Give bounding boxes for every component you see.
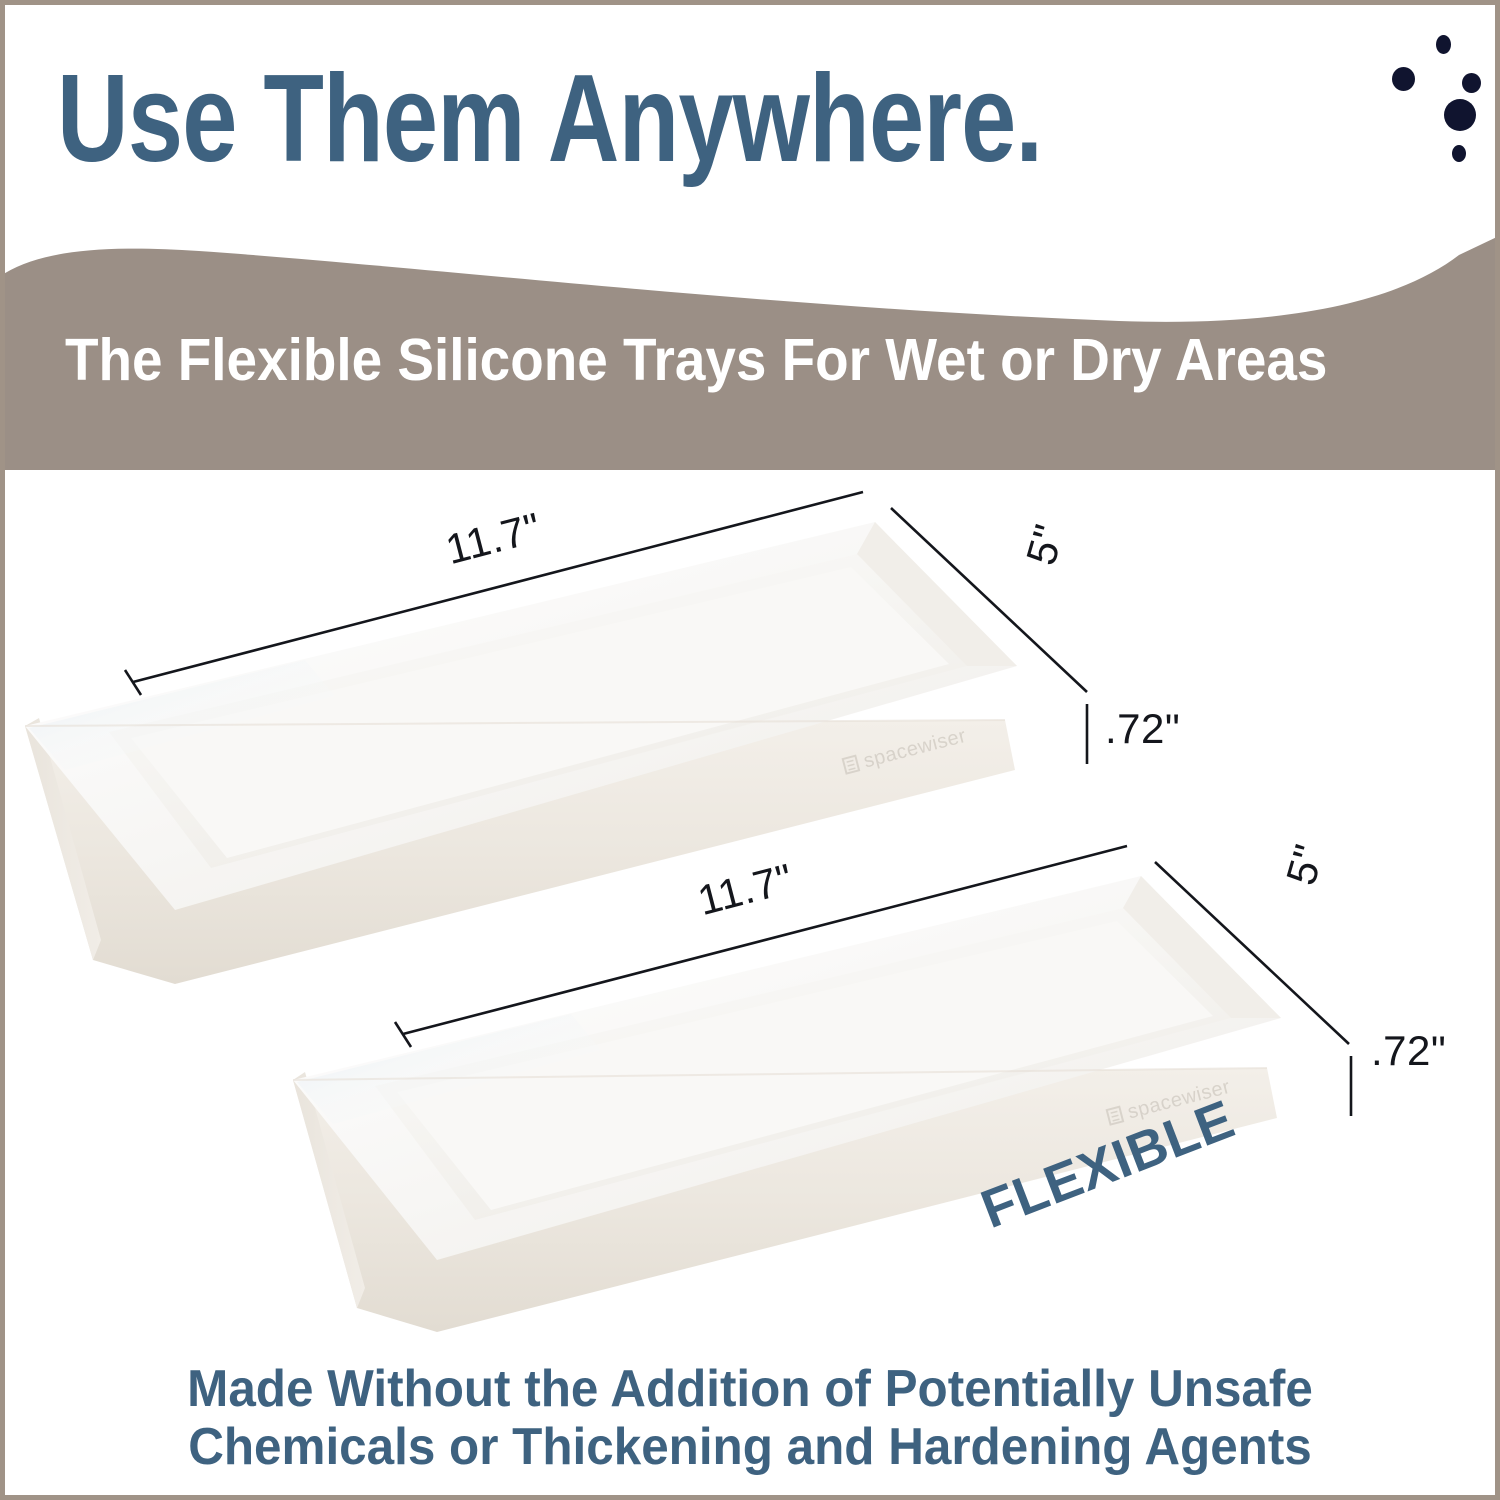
dimension-label-thickness-bottom: .72" (1371, 1027, 1446, 1075)
dimension-label-thickness-top: .72" (1105, 705, 1180, 753)
footer-caption: Made Without the Addition of Potentially… (5, 1360, 1495, 1476)
infographic-page: Use Them Anywhere. The Flexible Silicone… (0, 0, 1500, 1500)
banner-subtitle: The Flexible Silicone Trays For Wet or D… (65, 331, 1327, 390)
decorative-dot-icon (1444, 99, 1476, 131)
decorative-dot-icon (1436, 35, 1451, 54)
tray-bottom-graphic: spacewiser (293, 876, 1281, 1332)
page-title: Use Them Anywhere. (57, 57, 1042, 181)
decorative-dot-icon (1462, 73, 1481, 93)
footer-caption-line-2: Chemicals or Thickening and Hardening Ag… (42, 1418, 1458, 1476)
decorative-dots-cluster (1360, 27, 1490, 197)
tray-top-graphic: spacewiser (25, 522, 1017, 984)
decorative-dot-icon (1392, 67, 1415, 91)
footer-caption-line-1: Made Without the Addition of Potentially… (42, 1360, 1458, 1418)
decorative-dot-icon (1452, 145, 1466, 162)
